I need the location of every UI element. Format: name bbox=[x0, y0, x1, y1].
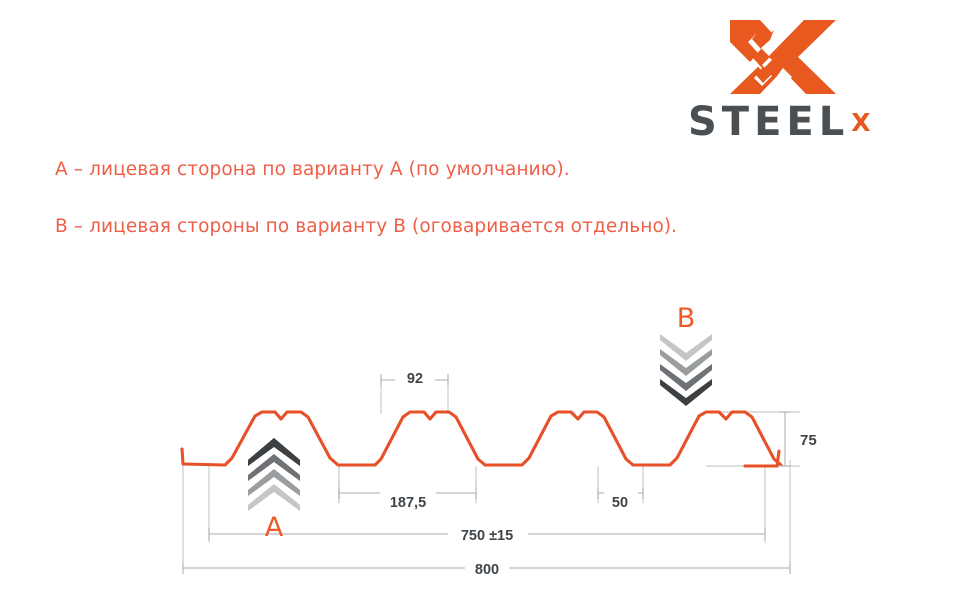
dimension-800: 800 bbox=[183, 558, 790, 578]
dimension-50-label: 50 bbox=[612, 495, 628, 511]
dimension-75: 75 bbox=[779, 412, 817, 466]
chevron-stack-up bbox=[246, 436, 302, 510]
dimension-187-5-label: 187,5 bbox=[390, 495, 426, 511]
chevron-stack-down bbox=[658, 334, 714, 408]
dimension-92: 92 bbox=[381, 368, 448, 387]
dimension-187-5: 187,5 bbox=[339, 487, 476, 511]
marker-variant-a: А bbox=[246, 436, 302, 541]
chevron-down-icon-4 bbox=[658, 379, 714, 409]
dimension-92-label: 92 bbox=[407, 371, 423, 387]
marker-a-label: А bbox=[246, 514, 302, 541]
dimension-800-label: 800 bbox=[475, 562, 499, 578]
marker-variant-b: В bbox=[658, 305, 714, 408]
profile-technical-drawing: 92 187,5 50 75 750 ±15 800 bbox=[0, 0, 970, 597]
dimension-750-label: 750 ±15 bbox=[461, 528, 513, 544]
chevron-up-icon-4 bbox=[246, 481, 302, 511]
dimension-75-label: 75 bbox=[800, 432, 817, 449]
dimension-50: 50 bbox=[598, 487, 643, 511]
marker-b-label: В bbox=[658, 305, 714, 332]
